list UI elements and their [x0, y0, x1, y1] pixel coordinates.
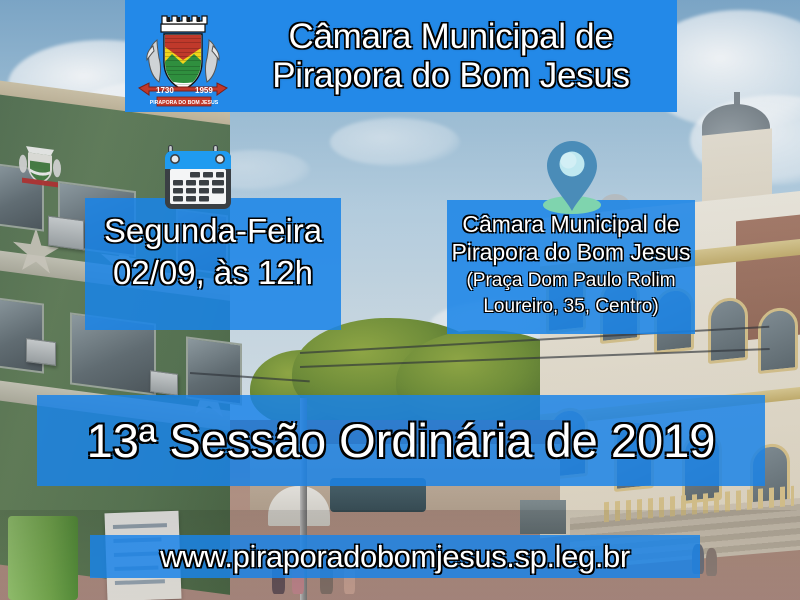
- address-line-1: (Praça Dom Paulo Rolim: [447, 269, 695, 292]
- header-banner: 1730 1959 PIRAPORA DO BOM JESUS Câmara M…: [125, 0, 677, 112]
- date-text: Segunda-Feira 02/09, às 12h: [85, 210, 341, 293]
- poster-canvas: 1730 1959 PIRAPORA DO BOM JESUS Câmara M…: [0, 0, 800, 600]
- header-title-line-2: Pirapora do Bom Jesus: [235, 56, 667, 95]
- weekday-label: Segunda-Feira: [85, 210, 341, 252]
- header-title-line-1: Câmara Municipal de: [235, 17, 667, 56]
- crest-year-left: 1730: [156, 86, 174, 95]
- venue-line-2: Pirapora do Bom Jesus: [447, 238, 695, 266]
- website-banner: www.piraporadobomjesus.sp.leg.br: [90, 535, 700, 578]
- crest-motto: PIRAPORA DO BOM JESUS: [150, 100, 219, 106]
- map-pin-icon: [540, 137, 604, 215]
- address-text: Câmara Municipal de Pirapora do Bom Jesu…: [447, 210, 695, 318]
- calendar-icon: [163, 139, 237, 211]
- page-title: Câmara Municipal de Pirapora do Bom Jesu…: [235, 17, 677, 95]
- crest-year-right: 1959: [195, 86, 213, 95]
- datetime-label: 02/09, às 12h: [85, 252, 341, 294]
- date-info-box: Segunda-Feira 02/09, às 12h: [85, 198, 341, 330]
- session-title: 13ª Sessão Ordinária de 2019: [87, 417, 716, 464]
- session-banner: 13ª Sessão Ordinária de 2019: [37, 395, 765, 486]
- website-url: www.piraporadobomjesus.sp.leg.br: [160, 541, 630, 572]
- address-line-2: Loureiro, 35, Centro): [447, 295, 695, 318]
- location-info-box: Câmara Municipal de Pirapora do Bom Jesu…: [447, 200, 695, 334]
- coat-of-arms-icon: 1730 1959 PIRAPORA DO BOM JESUS: [131, 4, 235, 108]
